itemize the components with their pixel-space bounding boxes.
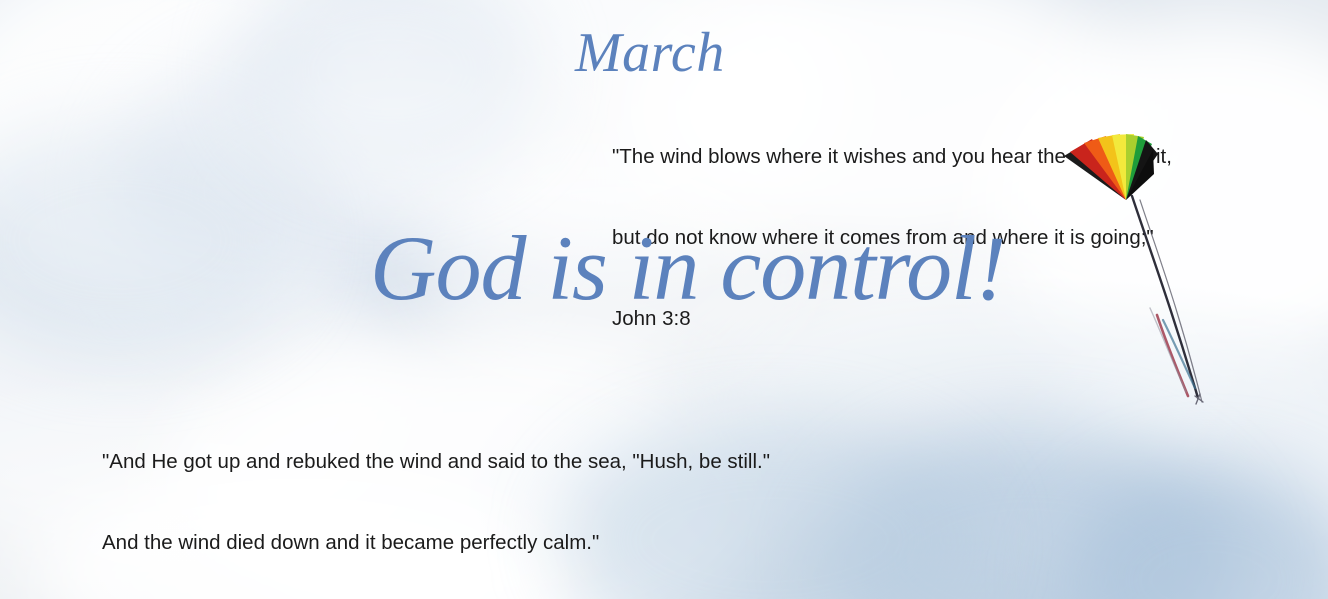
inspirational-banner: March "The wind blows where it wishes an… <box>0 0 1328 599</box>
verse-line: "The wind blows where it wishes and you … <box>612 143 1172 170</box>
verse-line: And the wind died down and it became per… <box>102 529 770 556</box>
month-title: March <box>575 24 725 83</box>
page-headline: God is in control! <box>370 222 1005 314</box>
verse-mark-4-39: "And He got up and rebuked the wind and … <box>102 394 770 599</box>
verse-line: "And He got up and rebuked the wind and … <box>102 448 770 475</box>
